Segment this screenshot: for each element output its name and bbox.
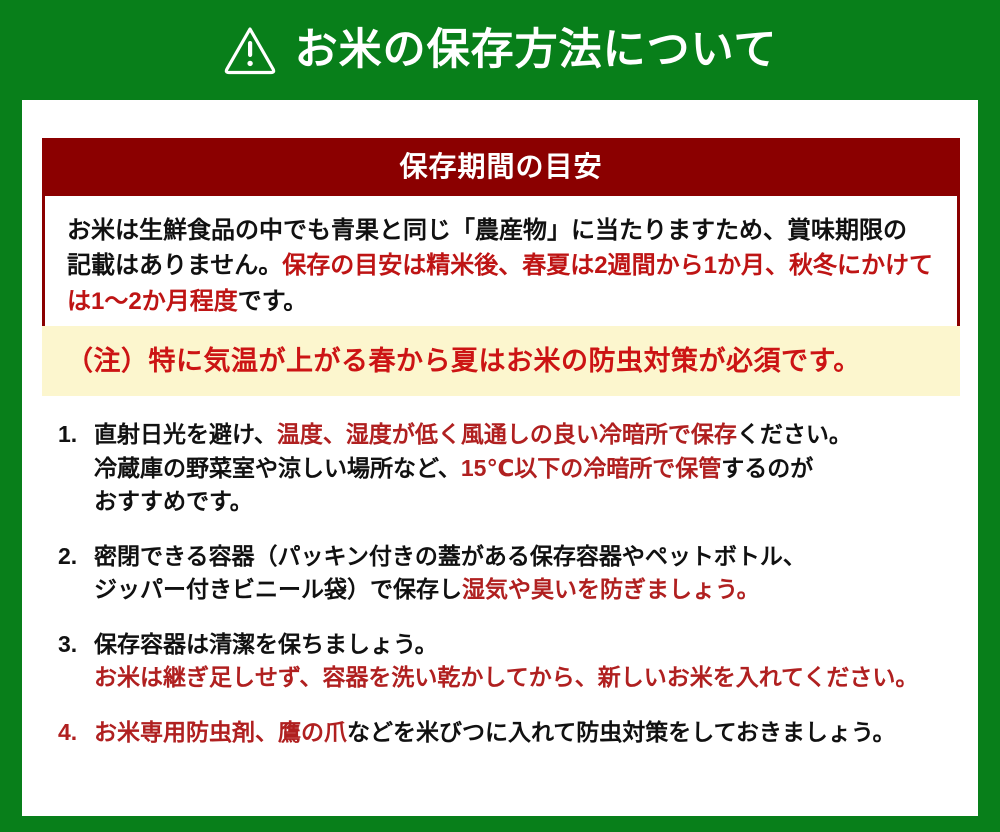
storage-tip-item: 1.直射日光を避け、温度、湿度が低く風通しの良い冷暗所で保存ください。冷蔵庫の野…: [58, 418, 964, 519]
plain-text: おすすめです。: [94, 488, 253, 514]
emphasis-text: 湿気や臭いを防ぎましょう。: [462, 576, 760, 602]
plain-text: 保存容器は清潔を保ちましょう。: [94, 631, 438, 657]
plain-text: するのが: [721, 455, 813, 481]
plain-text: お米は生鮮食品の中でも青果と同じ「農産物」に当たりますため、賞味期限の: [67, 217, 907, 244]
content-area: 保存期間の目安 お米は生鮮食品の中でも青果と同じ「農産物」に当たりますため、賞味…: [22, 100, 978, 816]
warning-triangle-icon: [223, 24, 277, 76]
caution-strip: （注）特に気温が上がる春から夏はお米の防虫対策が必須です。: [42, 326, 960, 396]
emphasis-text: 15℃以下の冷暗所で保管: [461, 455, 721, 481]
page-header-banner: お米の保存方法について: [0, 0, 1000, 100]
plain-text: などを米びつに入れて防虫対策をしておきましょう。: [347, 719, 896, 745]
storage-tip-line: 冷蔵庫の野菜室や涼しい場所など、15℃以下の冷暗所で保管するのが: [94, 452, 964, 486]
storage-period-line: は1～2か月程度です。: [67, 284, 935, 320]
storage-tip-line: おすすめです。: [94, 485, 964, 519]
plain-text: 記載はありません。: [67, 252, 282, 279]
emphasis-text: は1～2か月程度: [67, 288, 238, 315]
emphasis-text: お米専用防虫剤、鷹の爪: [94, 719, 347, 745]
storage-tip-line: お米は継ぎ足しせず、容器を洗い乾かしてから、新しいお米を入れてください。: [94, 661, 964, 695]
plain-text: ジッパー付きビニール袋）で保存し: [94, 576, 462, 602]
storage-tip-number: 4.: [58, 716, 94, 750]
emphasis-text: お米は継ぎ足しせず、容器を洗い乾かしてから、新しいお米を入れてください。: [94, 664, 918, 690]
storage-tip-text: お米専用防虫剤、鷹の爪などを米びつに入れて防虫対策をしておきましょう。: [94, 716, 964, 750]
plain-text: 密閉できる容器（パッキン付きの蓋がある保存容器やペットボトル、: [94, 543, 806, 569]
storage-tip-number: 2.: [58, 540, 94, 574]
emphasis-text: 温度、湿度が低く風通しの良い冷暗所で保存: [277, 421, 737, 447]
plain-text: 冷蔵庫の野菜室や涼しい場所など、: [94, 455, 461, 481]
storage-tip-line: お米専用防虫剤、鷹の爪などを米びつに入れて防虫対策をしておきましょう。: [94, 716, 964, 750]
storage-period-body: お米は生鮮食品の中でも青果と同じ「農産物」に当たりますため、賞味期限の記載はあり…: [45, 196, 957, 344]
storage-tip-text: 保存容器は清潔を保ちましょう。お米は継ぎ足しせず、容器を洗い乾かしてから、新しい…: [94, 628, 964, 695]
storage-tip-number: 1.: [58, 418, 94, 452]
storage-period-line: 記載はありません。保存の目安は精米後、春夏は2週間から1か月、秋冬にかけて: [67, 248, 935, 284]
plain-text: です。: [238, 288, 308, 315]
storage-tip-line: 直射日光を避け、温度、湿度が低く風通しの良い冷暗所で保存ください。: [94, 418, 964, 452]
storage-tip-line: 密閉できる容器（パッキン付きの蓋がある保存容器やペットボトル、: [94, 540, 964, 574]
storage-tip-text: 密閉できる容器（パッキン付きの蓋がある保存容器やペットボトル、ジッパー付きビニー…: [94, 540, 964, 607]
infographic-page: お米の保存方法について 保存期間の目安 お米は生鮮食品の中でも青果と同じ「農産物…: [0, 0, 1000, 832]
storage-tip-text: 直射日光を避け、温度、湿度が低く風通しの良い冷暗所で保存ください。冷蔵庫の野菜室…: [94, 418, 964, 519]
storage-tip-number: 3.: [58, 628, 94, 662]
storage-period-heading: 保存期間の目安: [45, 141, 957, 196]
emphasis-text: 保存の目安は精米後、春夏は2週間から1か月、秋冬にかけて: [282, 252, 933, 279]
caution-text: （注）特に気温が上がる春から夏はお米の防虫対策が必須です。: [66, 348, 861, 375]
plain-text: ください。: [737, 421, 852, 447]
storage-tip-line: 保存容器は清潔を保ちましょう。: [94, 628, 964, 662]
page-title: お米の保存方法について: [295, 29, 778, 72]
storage-period-line: お米は生鮮食品の中でも青果と同じ「農産物」に当たりますため、賞味期限の: [67, 213, 935, 249]
storage-period-card: 保存期間の目安 お米は生鮮食品の中でも青果と同じ「農産物」に当たりますため、賞味…: [42, 138, 960, 346]
storage-tip-item: 3.保存容器は清潔を保ちましょう。お米は継ぎ足しせず、容器を洗い乾かしてから、新…: [58, 628, 964, 695]
storage-tip-item: 4.お米専用防虫剤、鷹の爪などを米びつに入れて防虫対策をしておきましょう。: [58, 716, 964, 750]
storage-tip-item: 2.密閉できる容器（パッキン付きの蓋がある保存容器やペットボトル、ジッパー付きビ…: [58, 540, 964, 607]
storage-tips-list: 1.直射日光を避け、温度、湿度が低く風通しの良い冷暗所で保存ください。冷蔵庫の野…: [58, 418, 964, 750]
plain-text: 直射日光を避け、: [94, 421, 277, 447]
storage-tip-line: ジッパー付きビニール袋）で保存し湿気や臭いを防ぎましょう。: [94, 573, 964, 607]
